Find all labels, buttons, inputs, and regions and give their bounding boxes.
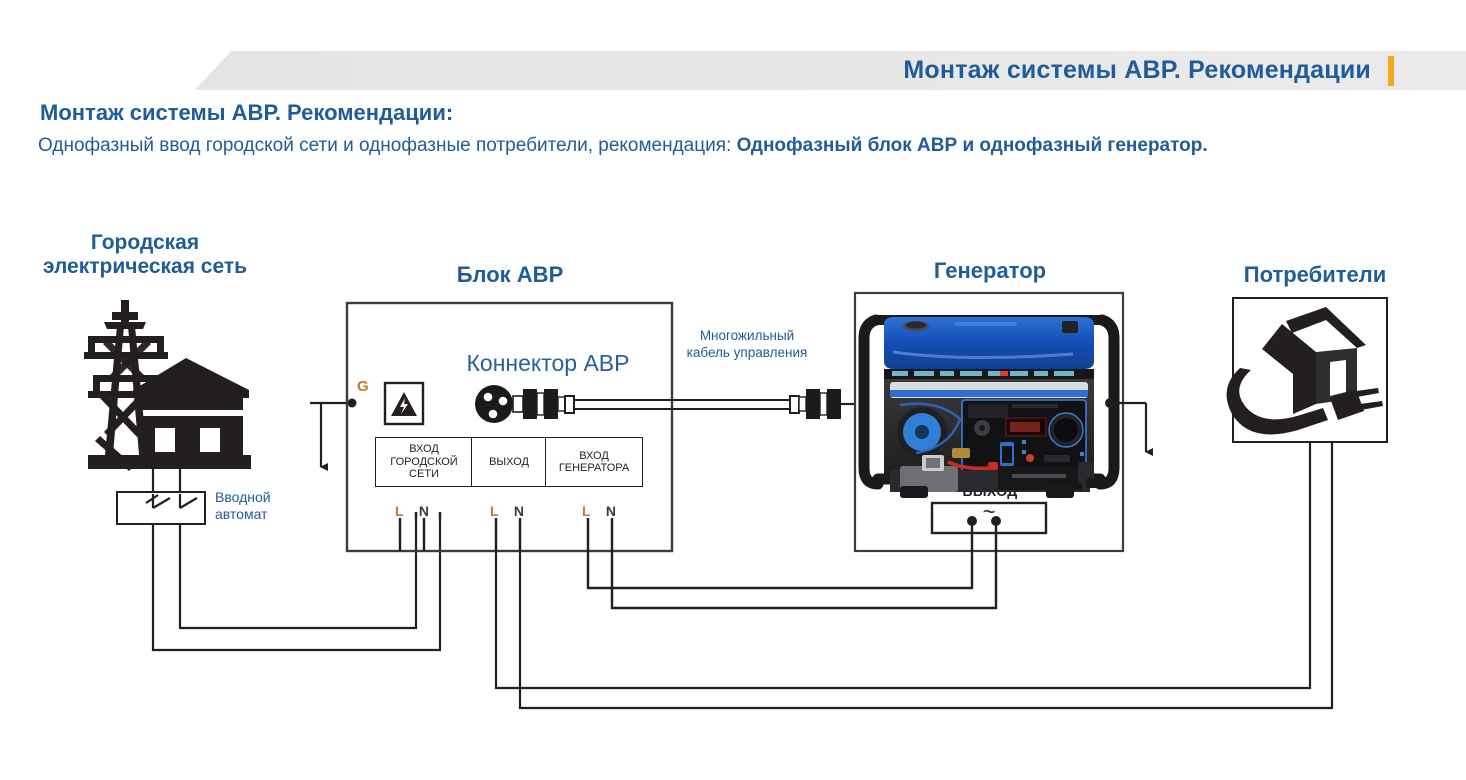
mains-drop-wires [153,469,180,494]
avr-pin-stubs [400,518,612,551]
diagram-graphics: ~ [0,0,1466,780]
ground-node-dot [348,399,357,408]
cable-plug-icon [513,389,574,419]
slide-canvas: Монтаж системы АВР. Рекомендации Монтаж … [0,0,1466,780]
circuit-breaker-icon [117,492,205,538]
wires-mains-to-avr [153,512,440,650]
house-icon [131,358,251,469]
high-voltage-warning-icon [385,383,423,424]
portable-generator-photo [864,317,1114,498]
generator-output-terminal: ~ [932,499,1046,533]
control-cable-line [574,400,790,409]
avr-block-enclosure [347,303,672,551]
round-3pin-socket-icon [475,385,513,423]
avr-mains-pin-wires [416,512,440,518]
ground-branch [310,403,352,467]
cable-plug-generator-end-icon [790,389,855,419]
